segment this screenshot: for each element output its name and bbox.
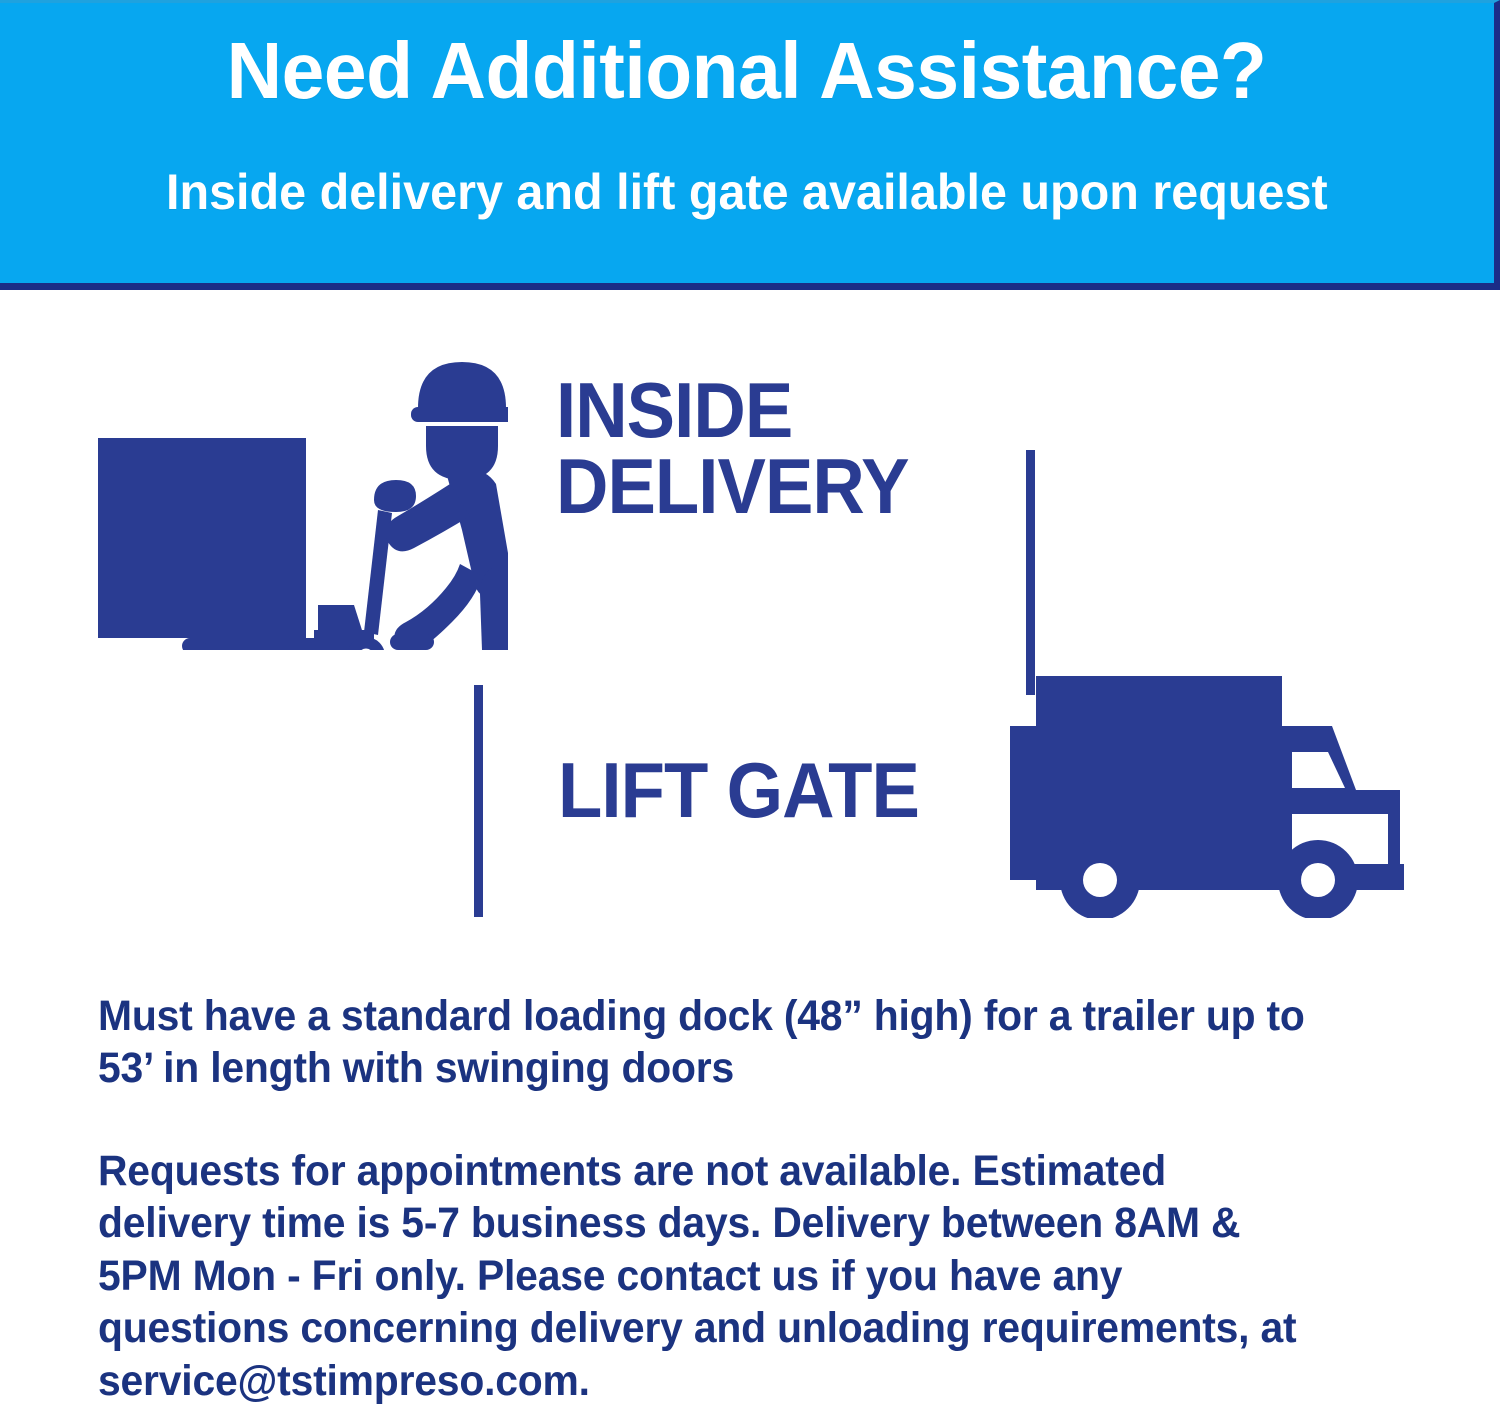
service-label-inside-delivery: INSIDE DELIVERY xyxy=(556,372,909,525)
worker-with-pallet-jack-icon xyxy=(78,360,508,650)
service-row-inside-delivery: INSIDE DELIVERY xyxy=(0,350,1500,660)
vertical-divider-left xyxy=(474,685,483,917)
service-label-line-2: DELIVERY xyxy=(556,448,909,524)
paragraph-loading-dock: Must have a standard loading dock (48” h… xyxy=(98,990,1324,1095)
page-title: Need Additional Assistance? xyxy=(227,31,1267,111)
service-label-line-1: INSIDE xyxy=(556,372,909,448)
box-truck-icon xyxy=(1000,668,1420,918)
page-subtitle: Inside delivery and lift gate available … xyxy=(166,167,1328,217)
service-rows: INSIDE DELIVERY LIFT GATE xyxy=(0,290,1500,970)
service-row-lift-gate: LIFT GATE xyxy=(0,660,1500,940)
service-label-lift-gate: LIFT GATE xyxy=(558,752,919,828)
delivery-assistance-infographic: Need Additional Assistance? Inside deliv… xyxy=(0,0,1500,1417)
body-copy: Must have a standard loading dock (48” h… xyxy=(98,990,1388,1407)
paragraph-delivery-terms: Requests for appointments are not availa… xyxy=(98,1145,1324,1407)
vertical-divider-right xyxy=(1026,450,1035,695)
header-banner: Need Additional Assistance? Inside deliv… xyxy=(0,0,1500,290)
